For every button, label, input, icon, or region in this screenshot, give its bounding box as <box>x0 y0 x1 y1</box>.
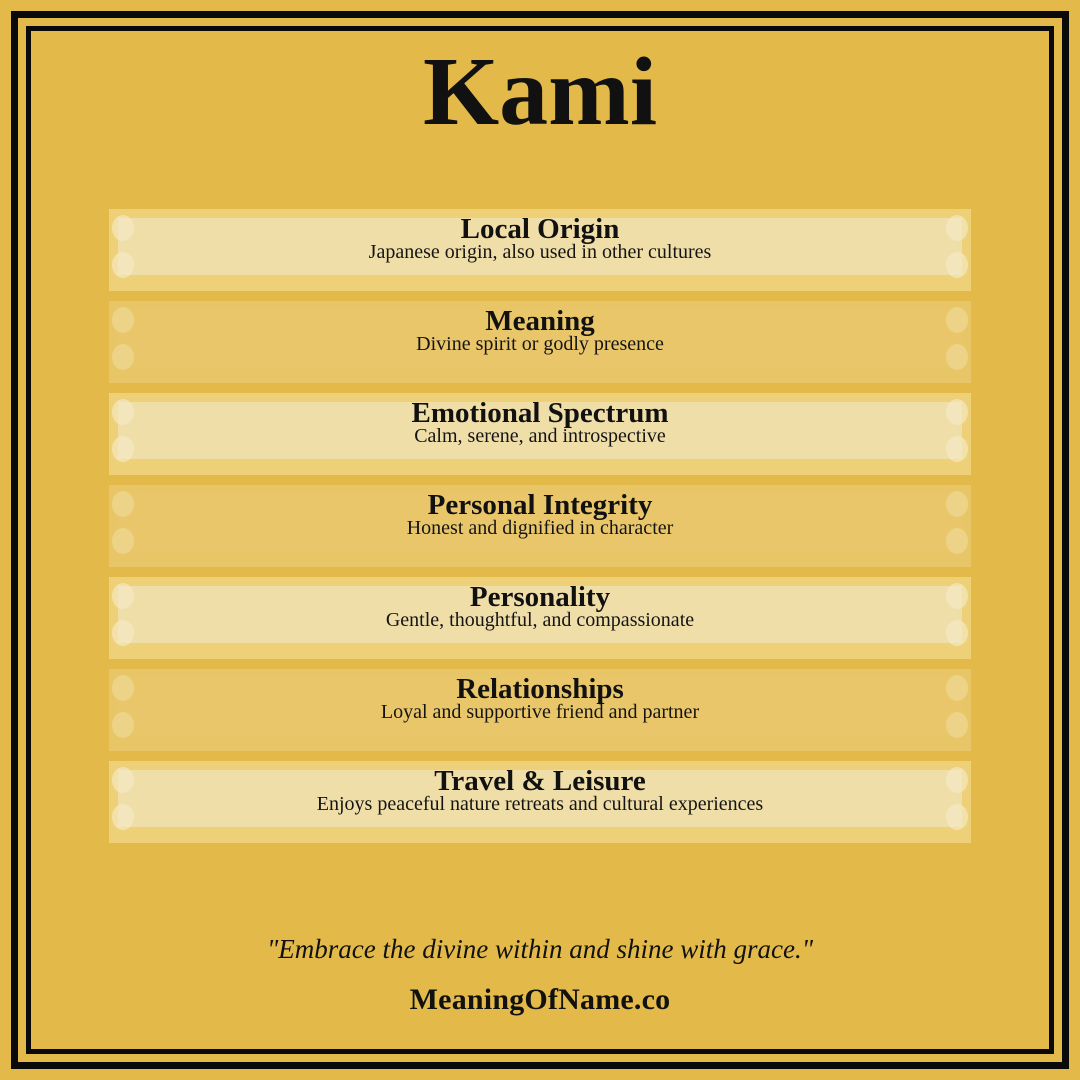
card-text: Emotional Spectrum Calm, serene, and int… <box>109 399 971 446</box>
card-heading: Personality <box>109 583 971 612</box>
attribute-card: Relationships Loyal and supportive frien… <box>109 669 971 751</box>
card-description: Divine spirit or godly presence <box>109 334 971 354</box>
card-text: Personal Integrity Honest and dignified … <box>109 491 971 538</box>
card-description: Calm, serene, and introspective <box>109 426 971 446</box>
attribute-card: Travel & Leisure Enjoys peaceful nature … <box>109 761 971 843</box>
tagline-quote: "Embrace the divine within and shine wit… <box>0 934 1080 965</box>
attribute-card-list: Local Origin Japanese origin, also used … <box>109 209 971 853</box>
attribute-card: Emotional Spectrum Calm, serene, and int… <box>109 393 971 475</box>
name-meaning-poster: Kami Local Origin Japanese origin, also … <box>0 0 1080 1080</box>
brand-name: MeaningOfName.co <box>0 983 1080 1017</box>
attribute-card: Personality Gentle, thoughtful, and comp… <box>109 577 971 659</box>
card-heading: Local Origin <box>109 215 971 244</box>
card-heading: Travel & Leisure <box>109 767 971 796</box>
card-text: Personality Gentle, thoughtful, and comp… <box>109 583 971 630</box>
card-heading: Emotional Spectrum <box>109 399 971 428</box>
card-description: Honest and dignified in character <box>109 518 971 538</box>
card-description: Japanese origin, also used in other cult… <box>109 242 971 262</box>
card-description: Loyal and supportive friend and partner <box>109 702 971 722</box>
attribute-card: Personal Integrity Honest and dignified … <box>109 485 971 567</box>
card-description: Enjoys peaceful nature retreats and cult… <box>109 794 971 814</box>
card-text: Travel & Leisure Enjoys peaceful nature … <box>109 767 971 814</box>
card-heading: Meaning <box>109 307 971 336</box>
card-text: Relationships Loyal and supportive frien… <box>109 675 971 722</box>
page-title: Kami <box>0 38 1080 148</box>
card-text: Local Origin Japanese origin, also used … <box>109 215 971 262</box>
card-text: Meaning Divine spirit or godly presence <box>109 307 971 354</box>
card-description: Gentle, thoughtful, and compassionate <box>109 610 971 630</box>
attribute-card: Meaning Divine spirit or godly presence <box>109 301 971 383</box>
attribute-card: Local Origin Japanese origin, also used … <box>109 209 971 291</box>
card-heading: Relationships <box>109 675 971 704</box>
card-heading: Personal Integrity <box>109 491 971 520</box>
